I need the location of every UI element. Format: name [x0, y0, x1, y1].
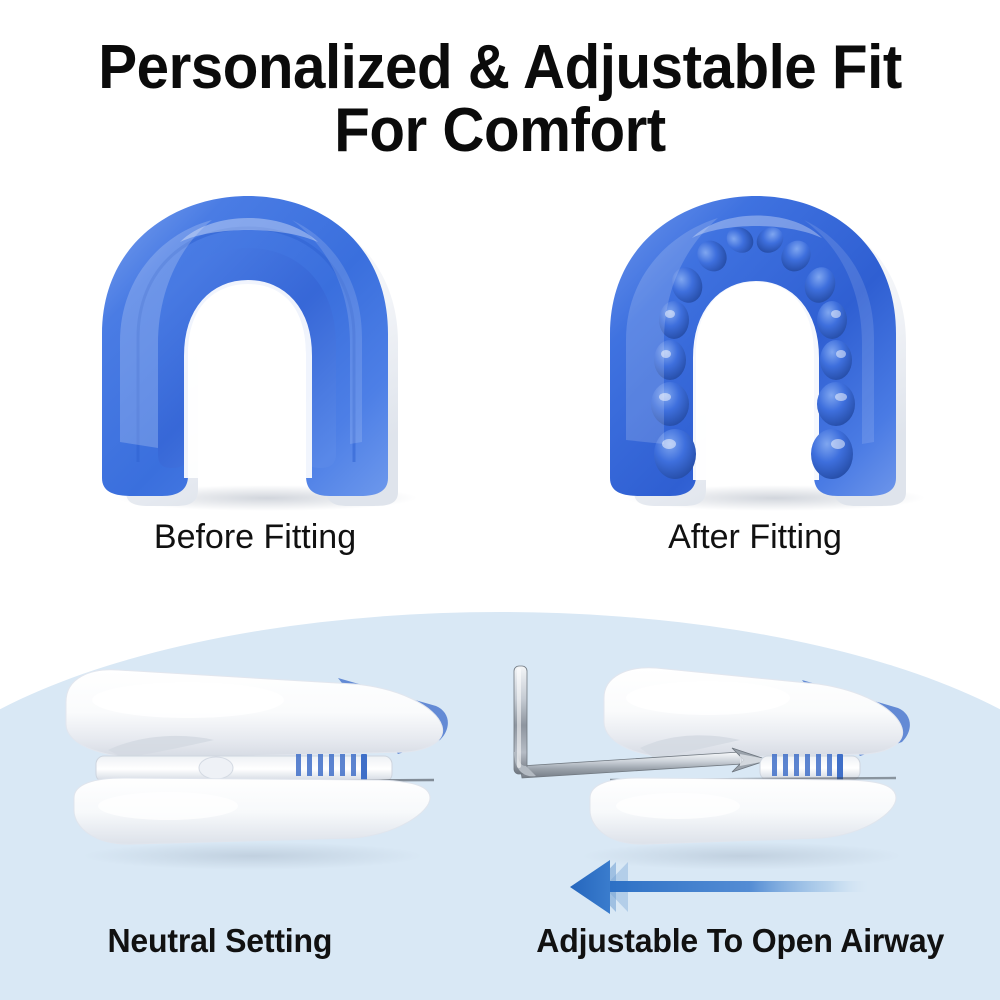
- title-line-2: For Comfort: [30, 99, 970, 162]
- mouthguard-tray-icon: [62, 192, 452, 512]
- neutral-setting-image: [38, 648, 468, 878]
- arrow-head: [570, 860, 610, 914]
- tray-white-liner: [192, 288, 304, 478]
- device-upper-highlight: [92, 682, 284, 718]
- after-fitting-label: After Fitting: [545, 518, 965, 557]
- hex-key-highlight: [517, 668, 521, 768]
- before-fitting-label: Before Fitting: [45, 518, 465, 557]
- before-fitting-image: [62, 192, 452, 512]
- device-side-view-with-key-icon: [492, 648, 922, 878]
- device-upper-highlight: [626, 681, 790, 715]
- neutral-setting-label-text: Neutral Setting: [108, 922, 333, 960]
- device-side-view-icon: [38, 648, 468, 878]
- device-lower-highlight: [98, 792, 238, 820]
- arrow-tail: [602, 881, 870, 892]
- page-title: Personalized & Adjustable Fit For Comfor…: [0, 36, 1000, 162]
- after-fitting-image: [570, 192, 960, 512]
- adjustable-open-airway-label: Adjustable To Open Airway: [480, 922, 1000, 960]
- open-airway-arrow: [566, 856, 876, 918]
- device-pivot-bump: [199, 757, 233, 779]
- arrow-left-icon: [566, 856, 876, 918]
- device-lower-highlight: [616, 793, 740, 819]
- adjustable-open-airway-label-text: Adjustable To Open Airway: [536, 922, 944, 960]
- mouthguard-tray-molded-icon: [570, 192, 960, 512]
- hex-key-arm: [520, 752, 742, 778]
- adjustable-open-airway-image: [492, 648, 922, 878]
- neutral-setting-label: Neutral Setting: [0, 922, 440, 960]
- product-infographic: Personalized & Adjustable Fit For Comfor…: [0, 0, 1000, 1000]
- tray-white-liner: [702, 290, 810, 480]
- title-line-1: Personalized & Adjustable Fit: [30, 36, 970, 99]
